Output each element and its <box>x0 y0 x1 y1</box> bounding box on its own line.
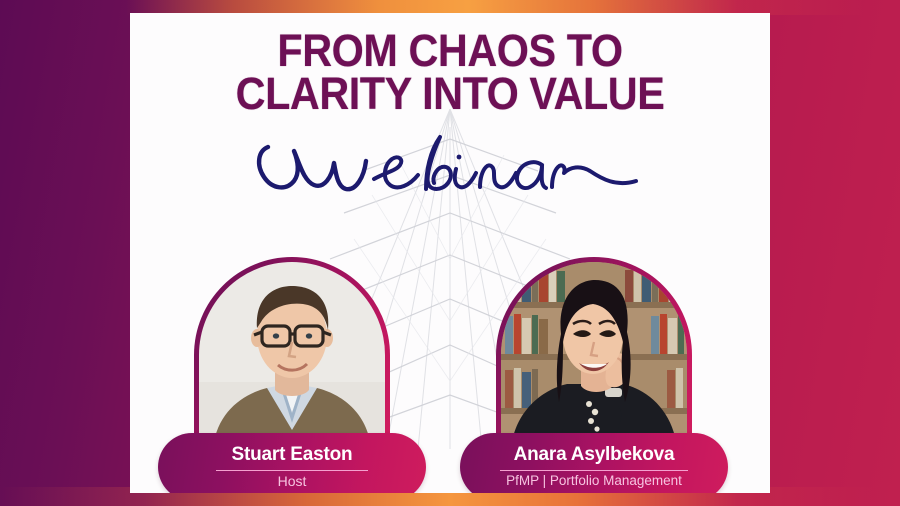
speakers-row: Stuart Easton Host <box>130 257 770 493</box>
speaker-name: Anara Asylbekova <box>514 445 675 466</box>
portrait-anara-asylbekova <box>501 262 687 448</box>
portrait-stuart-easton <box>199 262 385 448</box>
speaker-name-banner: Anara Asylbekova PfMP | Portfolio Manage… <box>460 433 728 493</box>
speaker-card-stuart-easton: Stuart Easton Host <box>158 257 426 453</box>
headline-line-2: CLARITY INTO VALUE <box>156 73 745 116</box>
speaker-name: Stuart Easton <box>232 445 353 466</box>
speaker-divider <box>216 470 368 472</box>
webinar-script-word <box>130 131 770 211</box>
poster-headline: FROM CHAOS TO CLARITY INTO VALUE <box>156 30 745 116</box>
poster-white-card: FROM CHAOS TO CLARITY INTO VALUE <box>130 13 770 493</box>
speaker-photo-frame <box>194 257 390 453</box>
speaker-photo <box>199 262 385 448</box>
webinar-poster: FROM CHAOS TO CLARITY INTO VALUE <box>0 0 900 506</box>
speaker-role: PfMP | Portfolio Management <box>506 474 682 489</box>
speaker-name-banner: Stuart Easton Host <box>158 433 426 493</box>
speaker-divider <box>500 470 688 472</box>
speaker-photo-frame <box>496 257 692 453</box>
speaker-role: Host <box>278 474 307 489</box>
speaker-card-anara-asylbekova: Anara Asylbekova PfMP | Portfolio Manage… <box>460 257 728 453</box>
speaker-photo <box>501 262 687 448</box>
